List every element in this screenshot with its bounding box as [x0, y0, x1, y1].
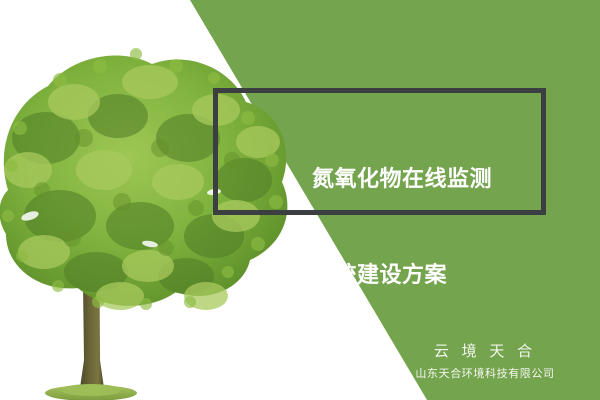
page-title: 氮氧化物在线监测 系统建设方案	[312, 100, 562, 356]
brand-name: 云 境 天 合	[380, 340, 590, 362]
page-title-line-2: 系统建设方案	[312, 260, 562, 292]
brand-company-name: 山东天合环境科技有限公司	[380, 364, 590, 384]
page-title-line-1: 氮氧化物在线监测	[312, 164, 562, 196]
brand-block: 云 境 天 合 山东天合环境科技有限公司	[380, 340, 590, 384]
presentation-cover-slide: 氮氧化物在线监测 系统建设方案 云 境 天 合 山东天合环境科技有限公司	[0, 0, 600, 400]
